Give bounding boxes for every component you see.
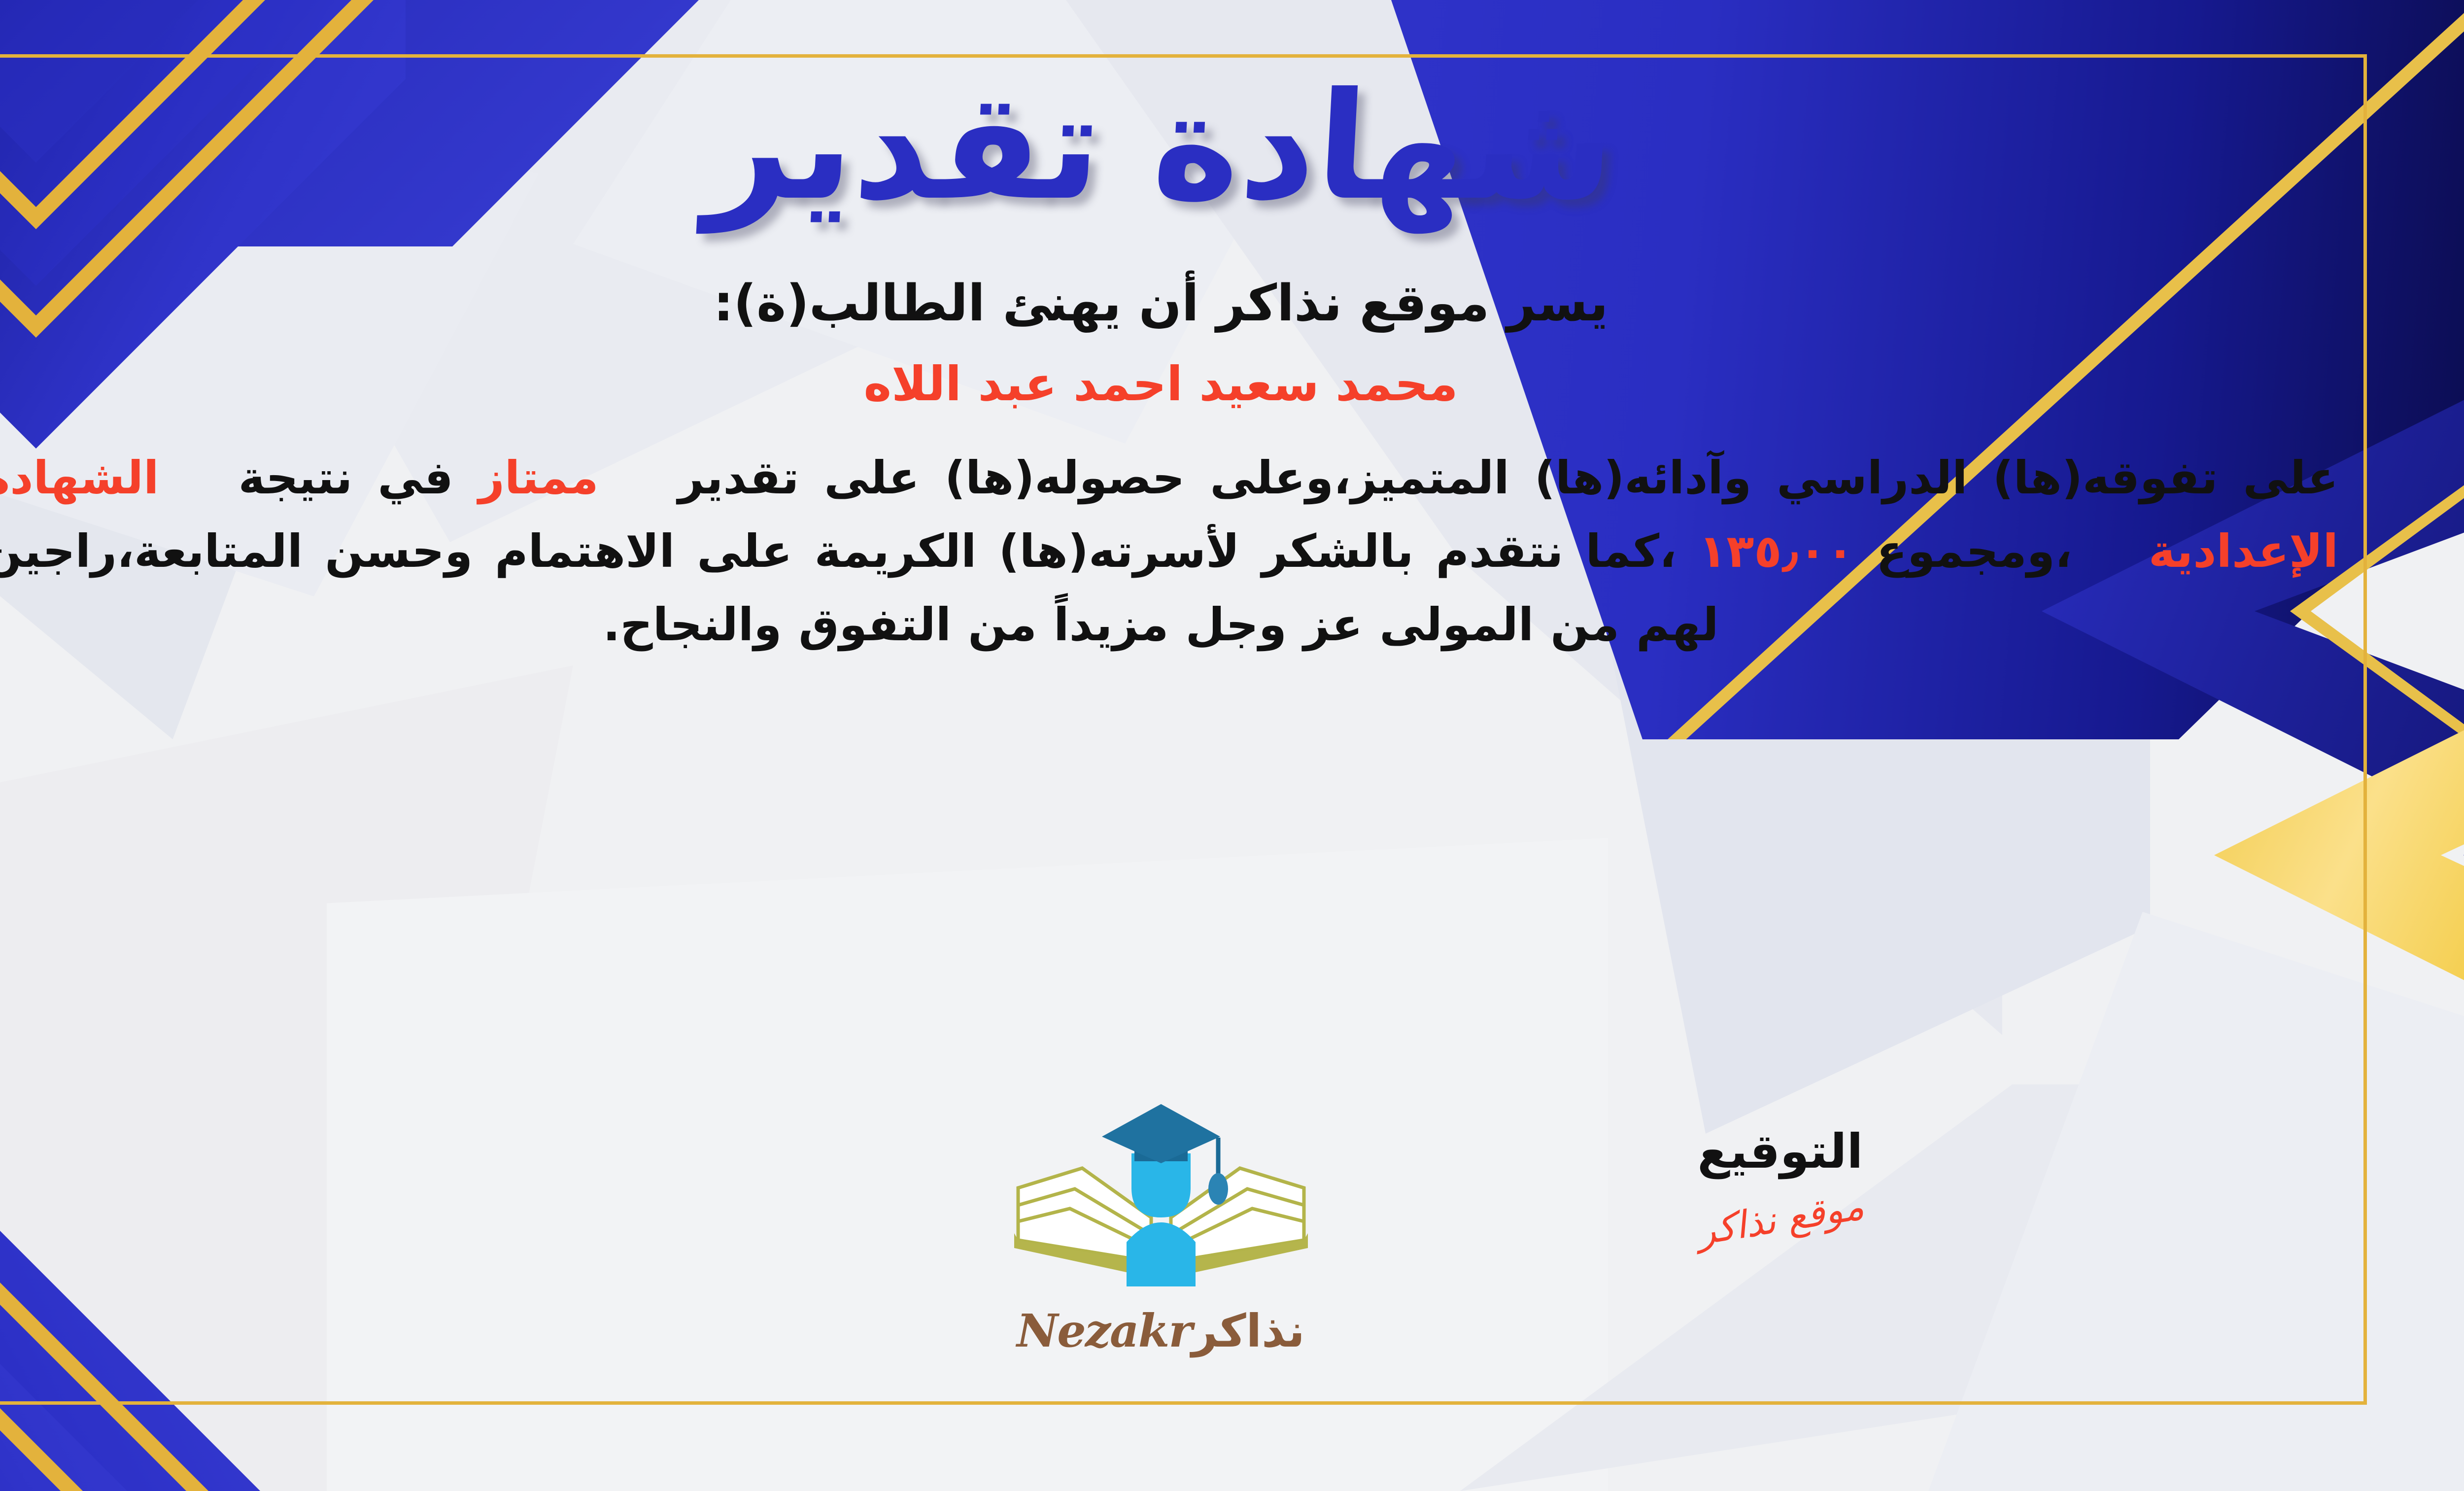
- grade-value: ممتاز: [479, 451, 599, 504]
- body-segment-2: في نتيجة: [239, 451, 453, 504]
- body-paragraph: على تفوقه(ها) الدراسي وآدائه(ها) المتميز…: [0, 441, 2367, 661]
- total-score: ١٣٥٫٠٠: [1699, 525, 1854, 578]
- signature-block: التوقيع موقع نذاكر: [1696, 1124, 1864, 1241]
- body-segment-3: ،ومجموع: [1876, 525, 2072, 578]
- certificate-title: شهادة تقدير: [0, 73, 2371, 221]
- certificate-content: شهادة تقدير يسر موقع نذاكر أن يهنئ الطال…: [0, 54, 2367, 1405]
- logo-wordmark: نذاكرNezakr: [974, 1304, 1348, 1357]
- certificate-canvas: شهادة تقدير يسر موقع نذاكر أن يهنئ الطال…: [0, 0, 2464, 1491]
- certificate-footer: التوقيع موقع نذاكر: [0, 1089, 2367, 1405]
- signature-label: التوقيع: [1696, 1124, 1864, 1179]
- logo-english: Nezakr: [1017, 1304, 1192, 1357]
- site-logo: نذاكرNezakr: [974, 1094, 1348, 1357]
- signature-mark: موقع نذاكر: [1694, 1184, 1867, 1253]
- graduation-cap-book-icon: [989, 1094, 1334, 1301]
- logo-mark: [989, 1094, 1334, 1301]
- body-segment-4: ،كما نتقدم بالشكر لأسرته(ها) الكريمة على…: [0, 525, 1719, 651]
- body-segment-1: على تفوقه(ها) الدراسي وآدائه(ها) المتميز…: [678, 451, 2338, 504]
- logo-arabic: نذاكر: [1192, 1305, 1305, 1357]
- greeting-text: يسر موقع نذاكر أن يهنئ الطالب(ة):: [0, 274, 2367, 333]
- student-name: محمد سعيد احمد عبد اللاه: [0, 356, 2367, 412]
